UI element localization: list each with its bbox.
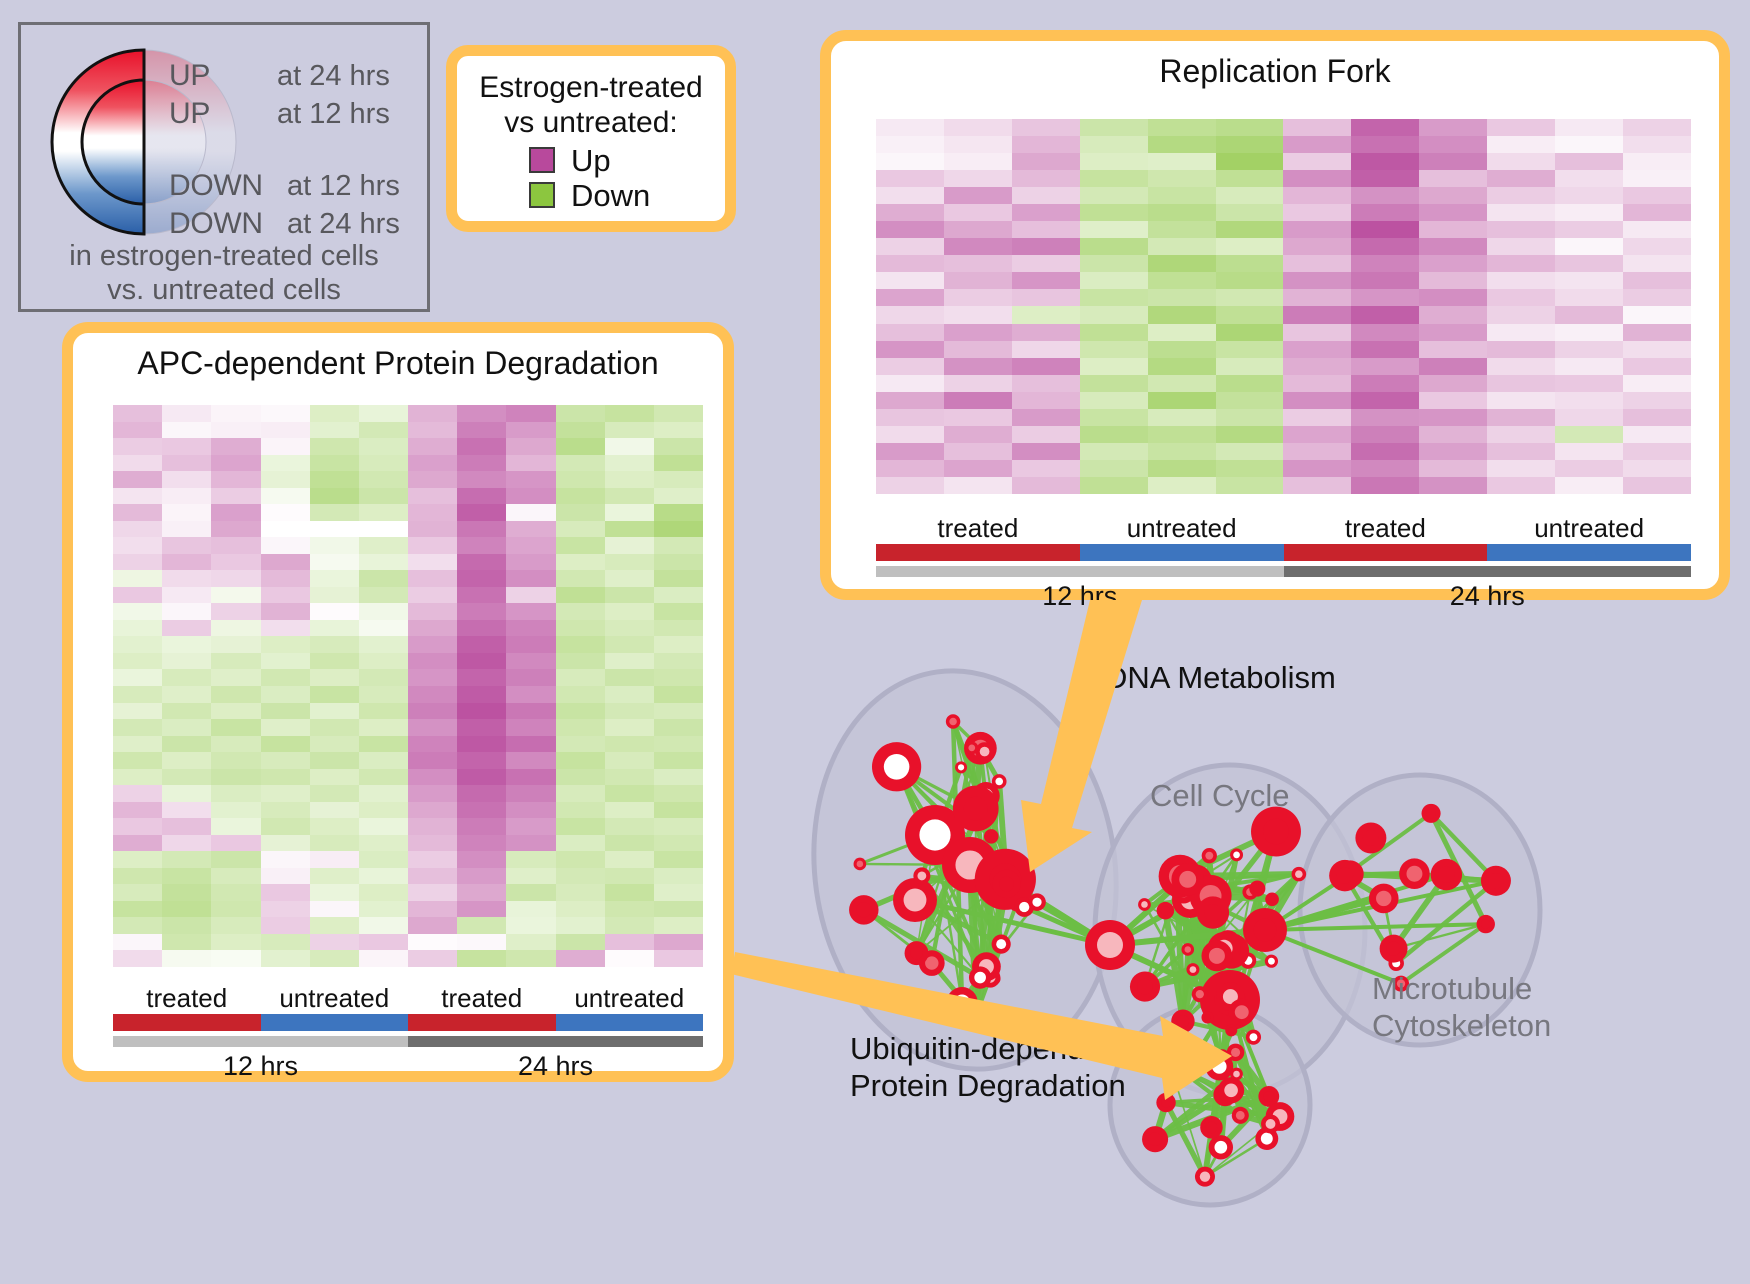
heatmap-cell [1148,187,1216,204]
heatmap-cell [457,719,506,736]
heatmap-cell [1623,153,1691,170]
heatmap-cell [1351,238,1419,255]
heatmap-cell [1283,426,1351,443]
heatmap-cell [211,901,260,918]
heatmap-cell [506,570,555,587]
heatmap-cell [211,719,260,736]
heatmap-cell [1487,426,1555,443]
network-node-core [884,754,910,780]
heatmap-cell [1487,119,1555,136]
heatmap-cell [654,884,703,901]
heatmap-cell [654,851,703,868]
heatmap-cell [1555,392,1623,409]
heatmap-cell [113,703,162,720]
network-node-core [1488,873,1504,889]
network-node-core [964,797,988,821]
heatmap-cell [162,488,211,505]
heatmap-cell [556,686,605,703]
heatmap-cell [605,868,654,885]
heatmap-cell [310,455,359,472]
heatmap-cell [1351,153,1419,170]
network-node-core [1224,1083,1238,1097]
heatmap-cell [408,703,457,720]
heatmap-cell [1012,341,1080,358]
heatmap-cell [113,934,162,951]
heatmap-cell [1351,289,1419,306]
heatmap-cell [1351,306,1419,323]
heatmap-cell [457,917,506,934]
heatmap-cell [1555,358,1623,375]
cluster-label-cell-cycle: Cell Cycle [1150,778,1290,814]
heatmap-cell [457,769,506,786]
heatmap-cell [310,851,359,868]
heatmap-cell [1351,392,1419,409]
heatmap-cell [113,950,162,967]
network-node-core [1295,870,1303,878]
heatmap-cell [1283,289,1351,306]
heatmap-cell [310,653,359,670]
heatmap-cell [876,341,944,358]
heatmap-cell [1283,187,1351,204]
heatmap-cell [211,405,260,422]
down-color-swatch [529,182,555,208]
heatmap-cell [654,570,703,587]
heatmap-cell [359,835,408,852]
heatmap-cell [944,341,1012,358]
network-node-core [917,871,926,880]
heatmap-cell [1351,375,1419,392]
heatmap-cell [944,170,1012,187]
heatmap-cell [261,736,310,753]
heatmap-cell [310,769,359,786]
heatmap-cell [556,752,605,769]
heatmap-cell [605,719,654,736]
heatmap-cell [113,835,162,852]
group-bar-segment [876,544,1080,561]
heatmap-cell [1623,204,1691,221]
heatmap-cell [1623,324,1691,341]
heatmap-cell [408,785,457,802]
heatmap-cell [408,752,457,769]
group-label: treated [1284,513,1488,544]
heatmap-cell [162,736,211,753]
heatmap-cell [310,686,359,703]
heatmap-cell [605,686,654,703]
heatmap-cell [876,460,944,477]
heatmap-cell [1623,119,1691,136]
heatmap-cell [1419,170,1487,187]
network-node-core [1212,1059,1226,1073]
color-key-rows: UP at 24 hrs UP at 12 hrs DOWN at 12 hrs… [169,59,419,245]
heatmap-cell [162,471,211,488]
heatmap-cell [457,686,506,703]
heatmap-cell [310,620,359,637]
heatmap-cell [1080,272,1148,289]
heatmap-cell [1216,324,1284,341]
heatmap-cell [162,438,211,455]
heatmap-cell [944,358,1012,375]
heatmap-cell [211,686,260,703]
heatmap-cell [1555,460,1623,477]
heatmap-cell [876,119,944,136]
heatmap-cell [310,422,359,439]
cluster-label-line1: Ubiquitin-dependent [850,1030,1128,1067]
heatmap-cell [876,306,944,323]
heatmap-cell [408,950,457,967]
heatmap-cell [1012,136,1080,153]
heatmap-cell [506,703,555,720]
network-node-core [1206,1121,1218,1133]
heatmap-cell [1012,238,1080,255]
heatmap-cell [876,187,944,204]
heatmap-cell [1419,187,1487,204]
heatmap-cell [162,703,211,720]
heatmap-cell [1012,289,1080,306]
network-node-core [1204,1014,1210,1020]
heatmap-cell [605,504,654,521]
heatmap-cell [556,802,605,819]
heatmap-cell [654,521,703,538]
network-node-core [1268,958,1275,965]
heatmap-cell [876,358,944,375]
heatmap-cell [310,471,359,488]
heatmap-cell [1351,460,1419,477]
heatmap-cell [457,587,506,604]
legend-item-down: Down [529,180,725,211]
heatmap-cell [1487,306,1555,323]
heatmap-cell [1216,358,1284,375]
heatmap-cell [1487,358,1555,375]
heatmap-cell [605,405,654,422]
heatmap-cell [1148,221,1216,238]
cluster-label-line2: Protein Degradation [850,1067,1128,1104]
heatmap-axis-legend: treated untreated treated untreated 12 h… [113,983,703,1082]
heatmap-cell [211,917,260,934]
heatmap-cell [113,818,162,835]
heatmap-cell [654,636,703,653]
heatmap-cell [261,752,310,769]
heatmap-cell [1148,255,1216,272]
heatmap-cell [944,392,1012,409]
heatmap-cell [359,405,408,422]
heatmap-cell [261,835,310,852]
heatmap-cell [605,851,654,868]
heatmap-cell [1419,289,1487,306]
heatmap-cell [876,443,944,460]
heatmap-cell [1283,392,1351,409]
heatmap-cell [556,521,605,538]
heatmap-cell [1012,477,1080,494]
heatmap-cell [1012,272,1080,289]
heatmap-cell [261,686,310,703]
heatmap-cell [457,405,506,422]
group-bar-segment [261,1014,409,1031]
time-bar-segment [876,566,1284,577]
heatmap-cell [408,521,457,538]
heatmap-cell [1080,238,1148,255]
heatmap-cell [359,769,408,786]
heatmap-cell [310,537,359,554]
heatmap-cell [457,868,506,885]
heatmap-cell [1283,255,1351,272]
heatmap-cell [113,769,162,786]
color-key-direction: UP [169,59,277,93]
heatmap-cell [944,119,1012,136]
time-labels: 12 hrs 24 hrs [113,1051,703,1082]
up-color-swatch [529,147,555,173]
heatmap-cell [310,917,359,934]
heatmap-cell [162,752,211,769]
heatmap-cell [113,521,162,538]
network-node-core [856,902,871,917]
heatmap-cell [1351,221,1419,238]
heatmap-cell [457,438,506,455]
heatmap-cell [654,438,703,455]
network-node-core [1376,891,1391,906]
heatmap-cell [1216,153,1284,170]
heatmap-cell [1487,392,1555,409]
heatmap-cell [1080,443,1148,460]
heatmap-cell [876,153,944,170]
heatmap-cell [457,620,506,637]
heatmap-cell [310,587,359,604]
heatmap-cell [1419,238,1487,255]
heatmap-cell [261,537,310,554]
heatmap-cell [605,752,654,769]
heatmap-cell [408,603,457,620]
network-node-core [1097,932,1123,958]
network-node-core [1249,1033,1257,1041]
heatmap-cell [408,901,457,918]
network-node-core [1337,867,1353,883]
heatmap-cell [1216,409,1284,426]
heatmap-cell [162,884,211,901]
heatmap-cell [944,255,1012,272]
heatmap-cell [457,818,506,835]
heatmap-cell [1148,170,1216,187]
heatmap-cell [556,570,605,587]
panel-title: APC-dependent Protein Degradation [73,345,723,382]
network-node-core [999,877,1014,892]
heatmap-cell [605,422,654,439]
color-key-footer-line1: in estrogen-treated cells [21,239,427,273]
heatmap-cell [261,950,310,967]
heatmap-cell [310,669,359,686]
heatmap-cell [359,521,408,538]
heatmap-cell [310,868,359,885]
heatmap-cell [1487,221,1555,238]
heatmap-cell [1623,409,1691,426]
group-bar-segment [113,1014,261,1031]
heatmap-cell [359,438,408,455]
heatmap-cell [359,653,408,670]
heatmap-cell [359,504,408,521]
heatmap-cell [654,802,703,819]
heatmap-cell [1216,204,1284,221]
heatmap-cell [261,422,310,439]
heatmap-cell [506,521,555,538]
heatmap-cell [408,570,457,587]
heatmap-cell [1419,375,1487,392]
heatmap-cell [1283,272,1351,289]
color-key-time: at 12 hrs [287,170,400,203]
heatmap-cell [1012,306,1080,323]
heatmap-cell [162,934,211,951]
heatmap-cell [113,620,162,637]
heatmap-cell [310,835,359,852]
heatmap-cell [654,669,703,686]
heatmap-cell [310,752,359,769]
network-node-core [910,947,922,959]
heatmap-cell [359,537,408,554]
heatmap-cell [1080,255,1148,272]
heatmap-cell [1148,358,1216,375]
heatmap-cell [261,455,310,472]
heatmap-cell [457,785,506,802]
heatmap-cell [654,455,703,472]
heatmap-cell [1351,170,1419,187]
color-key-direction: UP [169,97,277,131]
heatmap-cell [1623,375,1691,392]
heatmap-cell [310,934,359,951]
heatmap-cell [211,818,260,835]
heatmap-cell [457,653,506,670]
heatmap-cell [211,455,260,472]
heatmap-cell [1080,426,1148,443]
heatmap-cell [113,504,162,521]
heatmap-cell [556,835,605,852]
heatmap-cell [506,769,555,786]
heatmap-cell [876,477,944,494]
network-node-core [1214,1141,1227,1154]
heatmap-cell [310,802,359,819]
heatmap-cell [457,950,506,967]
heatmap-cell [1555,255,1623,272]
legend-item-up: Up [529,145,725,176]
heatmap-cell [408,868,457,885]
heatmap-cell [1080,341,1148,358]
heatmap-cell [605,537,654,554]
heatmap-cell [359,884,408,901]
network-node-core [1386,941,1401,956]
heatmap-cell [654,603,703,620]
network-node-core [1177,1015,1189,1027]
legend-title-line2: vs untreated: [457,105,725,140]
heatmap-cell [556,438,605,455]
network-node-core [1209,948,1225,964]
heatmap-cell [1283,477,1351,494]
heatmap-cell [211,884,260,901]
heatmap-cell [654,785,703,802]
heatmap-cell [556,537,605,554]
heatmap-cell [408,818,457,835]
heatmap-cell [1351,477,1419,494]
network-graph [760,600,1750,1279]
heatmap-cell [162,422,211,439]
heatmap-cell [1419,409,1487,426]
heatmap-cell [359,587,408,604]
heatmap-cell [162,769,211,786]
heatmap-cell [310,504,359,521]
heatmap-cell [113,554,162,571]
heatmap-cell [605,554,654,571]
heatmap-cell [1487,255,1555,272]
heatmap-cell [605,488,654,505]
heatmap-cell [1283,358,1351,375]
heatmap-cell [1351,136,1419,153]
heatmap-cell [1487,324,1555,341]
heatmap-cell [1080,460,1148,477]
heatmap-cell [1283,341,1351,358]
network-node-core [1032,898,1041,907]
heatmap-cell [1555,341,1623,358]
group-label: treated [408,983,556,1014]
heatmap-cell [556,703,605,720]
heatmap-cell [1080,119,1148,136]
heatmap-cell [556,769,605,786]
heatmap-cell [408,802,457,819]
heatmap-cell [310,703,359,720]
network-node-core [919,819,950,850]
heatmap-cell [654,537,703,554]
heatmap-cell [408,917,457,934]
heatmap-cell [1487,204,1555,221]
heatmap-cell [1555,170,1623,187]
heatmap-cell [654,901,703,918]
heatmap-cell [506,422,555,439]
heatmap-apc-dependent [113,405,703,967]
heatmap-cell [113,669,162,686]
heatmap-cell [605,917,654,934]
network-node-core [1233,851,1240,858]
heatmap-cell [506,636,555,653]
network-node-core [1263,1091,1274,1102]
time-label: 12 hrs [113,1051,408,1082]
cluster-label-ubiquitin-dependent: Ubiquitin-dependent Protein Degradation [850,1030,1128,1104]
heatmap-cell [211,537,260,554]
heatmap-cell [1216,119,1284,136]
network-node-core [1190,966,1197,973]
time-color-bar [876,566,1691,577]
heatmap-cell [359,719,408,736]
heatmap-cell [556,818,605,835]
color-key-direction: DOWN [169,169,287,203]
network-node-core [1481,919,1491,929]
up-down-legend-box: Estrogen-treated vs untreated: Up Down [446,45,736,232]
heatmap-cell [944,409,1012,426]
heatmap-cell [162,521,211,538]
heatmap-cell [556,504,605,521]
heatmap-cell [1283,460,1351,477]
heatmap-cell [506,488,555,505]
heatmap-cell [1148,392,1216,409]
heatmap-cell [310,570,359,587]
heatmap-cell [359,636,408,653]
down-label: Down [571,180,650,211]
heatmap-cell [1080,409,1148,426]
heatmap-cell [1283,375,1351,392]
heatmap-cell [1216,136,1284,153]
heatmap-cell [1148,289,1216,306]
cluster-label-line2: Cytoskeleton [1372,1007,1551,1044]
heatmap-cell [1216,272,1284,289]
time-label: 24 hrs [408,1051,703,1082]
heatmap-cell [113,537,162,554]
network-node-core [1254,919,1277,942]
heatmap-cell [261,636,310,653]
heatmap-cell [1487,238,1555,255]
heatmap-cell [1487,187,1555,204]
